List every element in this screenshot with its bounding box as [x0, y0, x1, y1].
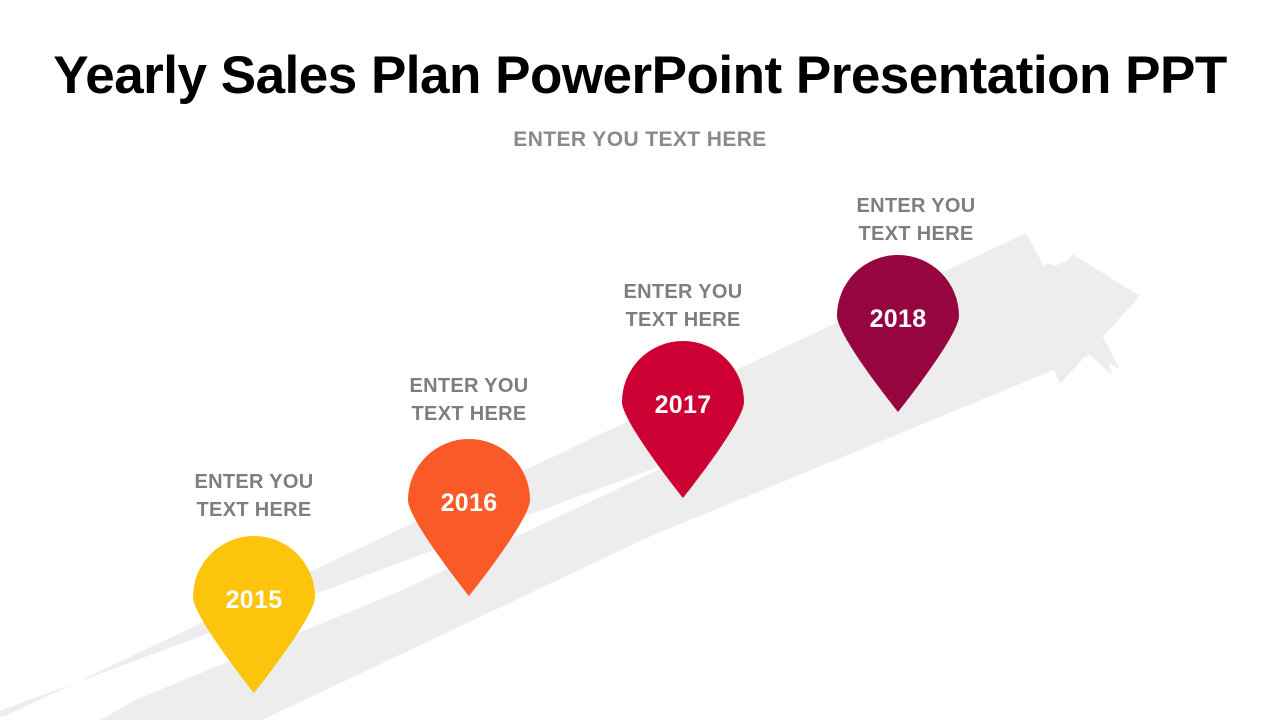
milestone-year-2018: 2018 [832, 305, 964, 334]
milestone-pin-2016[interactable]: 2016 [403, 436, 535, 596]
milestone-year-2017: 2017 [617, 391, 749, 420]
milestone-caption-2018-line1: ENTER YOU [806, 192, 1026, 220]
milestone-caption-2017-line2: TEXT HERE [573, 306, 793, 334]
milestone-caption-2015-line1: ENTER YOU [144, 468, 364, 496]
milestone-year-2016: 2016 [403, 489, 535, 518]
milestone-pin-2018[interactable]: 2018 [832, 252, 964, 412]
milestone-pin-2015[interactable]: 2015 [188, 533, 320, 693]
milestone-caption-2016-line1: ENTER YOU [359, 372, 579, 400]
slide-canvas: Yearly Sales Plan PowerPoint Presentatio… [0, 0, 1280, 720]
milestone-caption-2017-line1: ENTER YOU [573, 278, 793, 306]
milestone-pin-2017[interactable]: 2017 [617, 338, 749, 498]
milestone-caption-2016-line2: TEXT HERE [359, 400, 579, 428]
milestone-caption-2017: ENTER YOU TEXT HERE [573, 278, 793, 335]
milestone-caption-2018: ENTER YOU TEXT HERE [806, 192, 1026, 249]
milestone-caption-2015: ENTER YOU TEXT HERE [144, 468, 364, 525]
milestone-year-2015: 2015 [188, 586, 320, 615]
milestone-caption-2018-line2: TEXT HERE [806, 220, 1026, 248]
milestone-caption-2016: ENTER YOU TEXT HERE [359, 372, 579, 429]
milestone-caption-2015-line2: TEXT HERE [144, 496, 364, 524]
